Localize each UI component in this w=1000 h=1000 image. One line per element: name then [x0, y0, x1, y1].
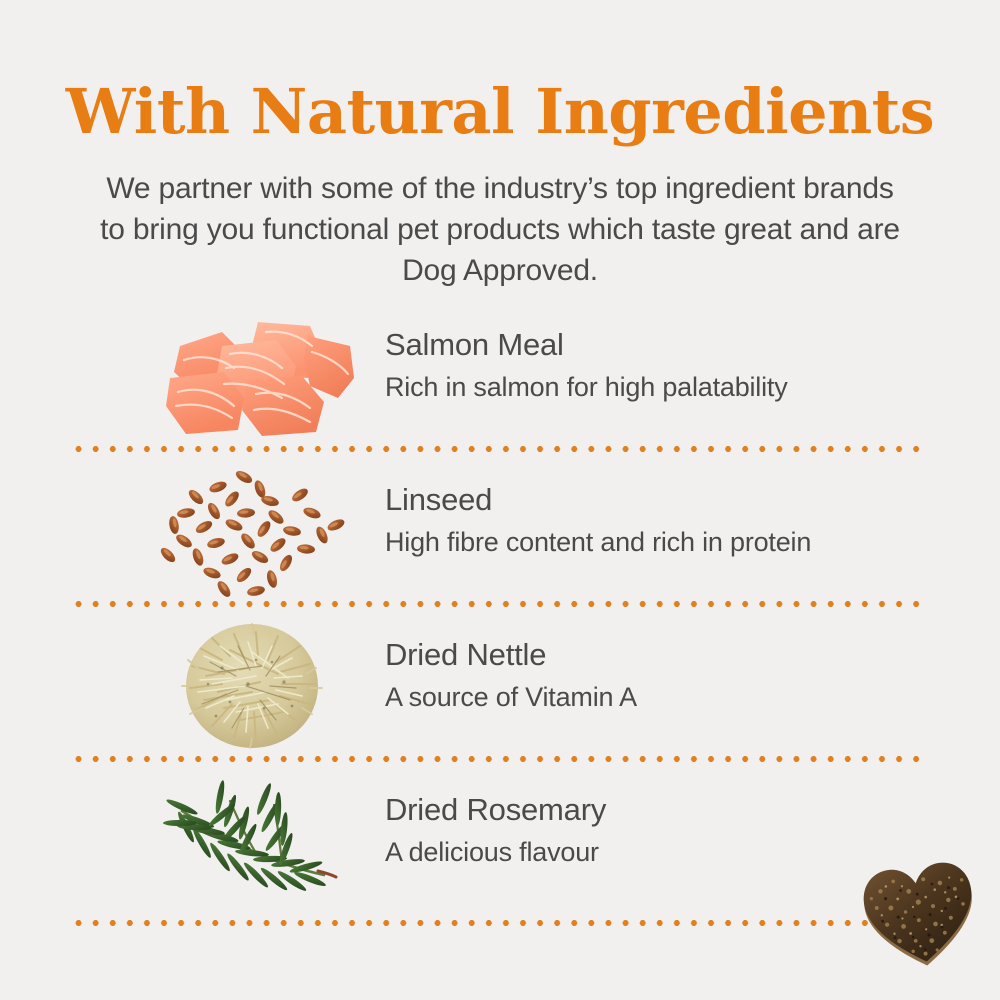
rosemary-sprig-photo: [160, 771, 360, 911]
ingredient-description: Rich in salmon for high palatability: [385, 370, 965, 404]
ingredient-text-block: Salmon Meal Rich in salmon for high pala…: [385, 326, 965, 404]
salmon-chunks-photo: [160, 306, 360, 446]
list-item: Dried Rosemary A delicious flavour: [0, 765, 1000, 920]
ingredient-title: Dried Nettle: [385, 636, 965, 674]
ingredient-title: Linseed: [385, 481, 965, 519]
list-item: Linseed High fibre content and rich in p…: [0, 455, 1000, 610]
list-item: Dried Nettle A source of Vitamin A: [0, 610, 1000, 765]
ingredients-infographic: With Natural Ingredients We partner with…: [0, 0, 1000, 1000]
dried-nettle-pile-photo: [160, 616, 360, 756]
divider-4: [70, 920, 926, 926]
page-title: With Natural Ingredients: [0, 76, 1000, 148]
ingredient-text-block: Dried Nettle A source of Vitamin A: [385, 636, 965, 714]
ingredient-title: Salmon Meal: [385, 326, 965, 364]
linseed-seeds-photo: [160, 461, 360, 601]
ingredient-description: High fibre content and rich in protein: [385, 525, 965, 559]
list-item: Salmon Meal Rich in salmon for high pala…: [0, 300, 1000, 455]
page-subtitle: We partner with some of the industry’s t…: [100, 168, 900, 291]
ingredient-description: A source of Vitamin A: [385, 680, 965, 714]
ingredient-title: Dried Rosemary: [385, 791, 965, 829]
ingredient-text-block: Linseed High fibre content and rich in p…: [385, 481, 965, 559]
heart-shaped-dog-treat: [862, 858, 978, 968]
ingredient-list: Salmon Meal Rich in salmon for high pala…: [0, 300, 1000, 920]
